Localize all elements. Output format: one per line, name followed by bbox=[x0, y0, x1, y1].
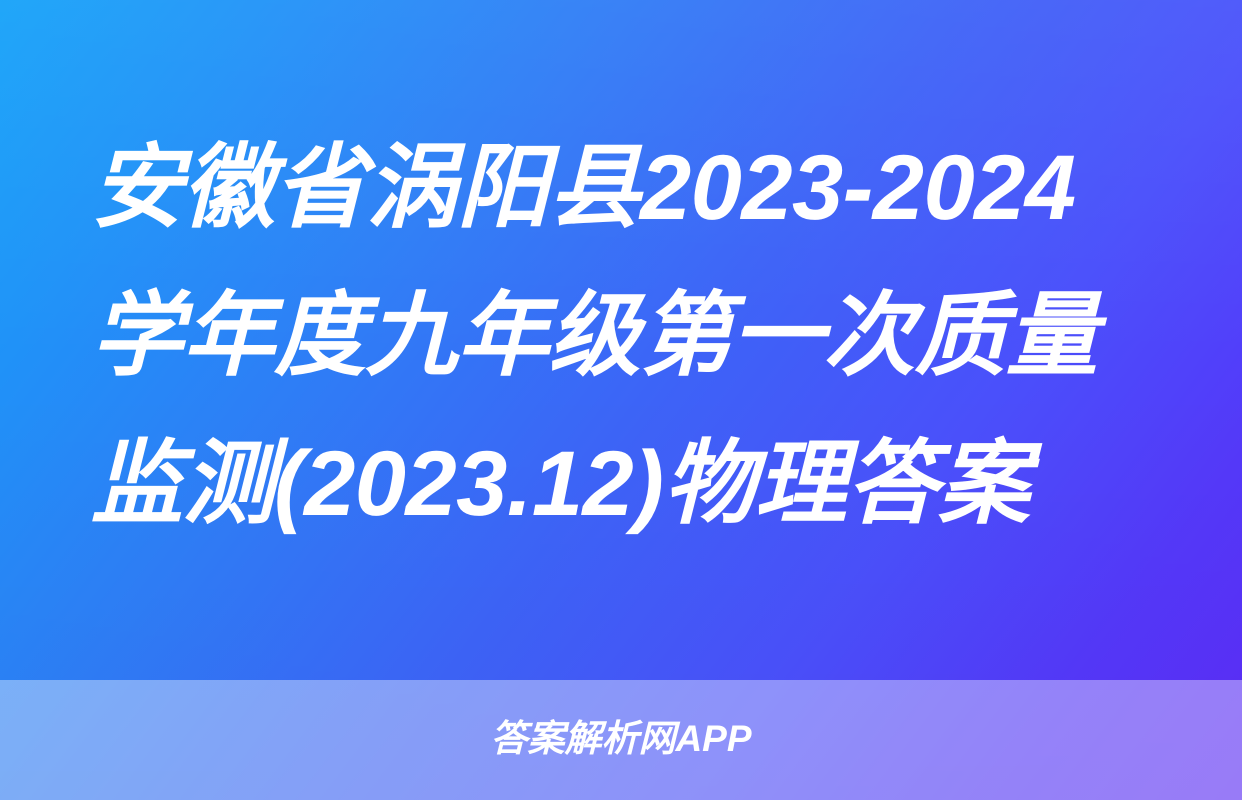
brand-watermark: 答案解析网APP bbox=[490, 720, 751, 757]
title-line-1: 安徽省涡阳县2023-202 bbox=[91, 137, 1025, 239]
answer-cover-card: 安徽省涡阳县2023-2024学年度九年级第一次质量监测(2023.12)物理答… bbox=[0, 0, 1242, 800]
title-area: 安徽省涡阳县2023-2024学年度九年级第一次质量监测(2023.12)物理答… bbox=[0, 0, 1242, 680]
page-title: 安徽省涡阳县2023-2024学年度九年级第一次质量监测(2023.12)物理答… bbox=[91, 114, 1151, 558]
title-line-4: 案 bbox=[938, 433, 1030, 535]
footer-brand-band: 答案解析网APP bbox=[0, 680, 1242, 800]
